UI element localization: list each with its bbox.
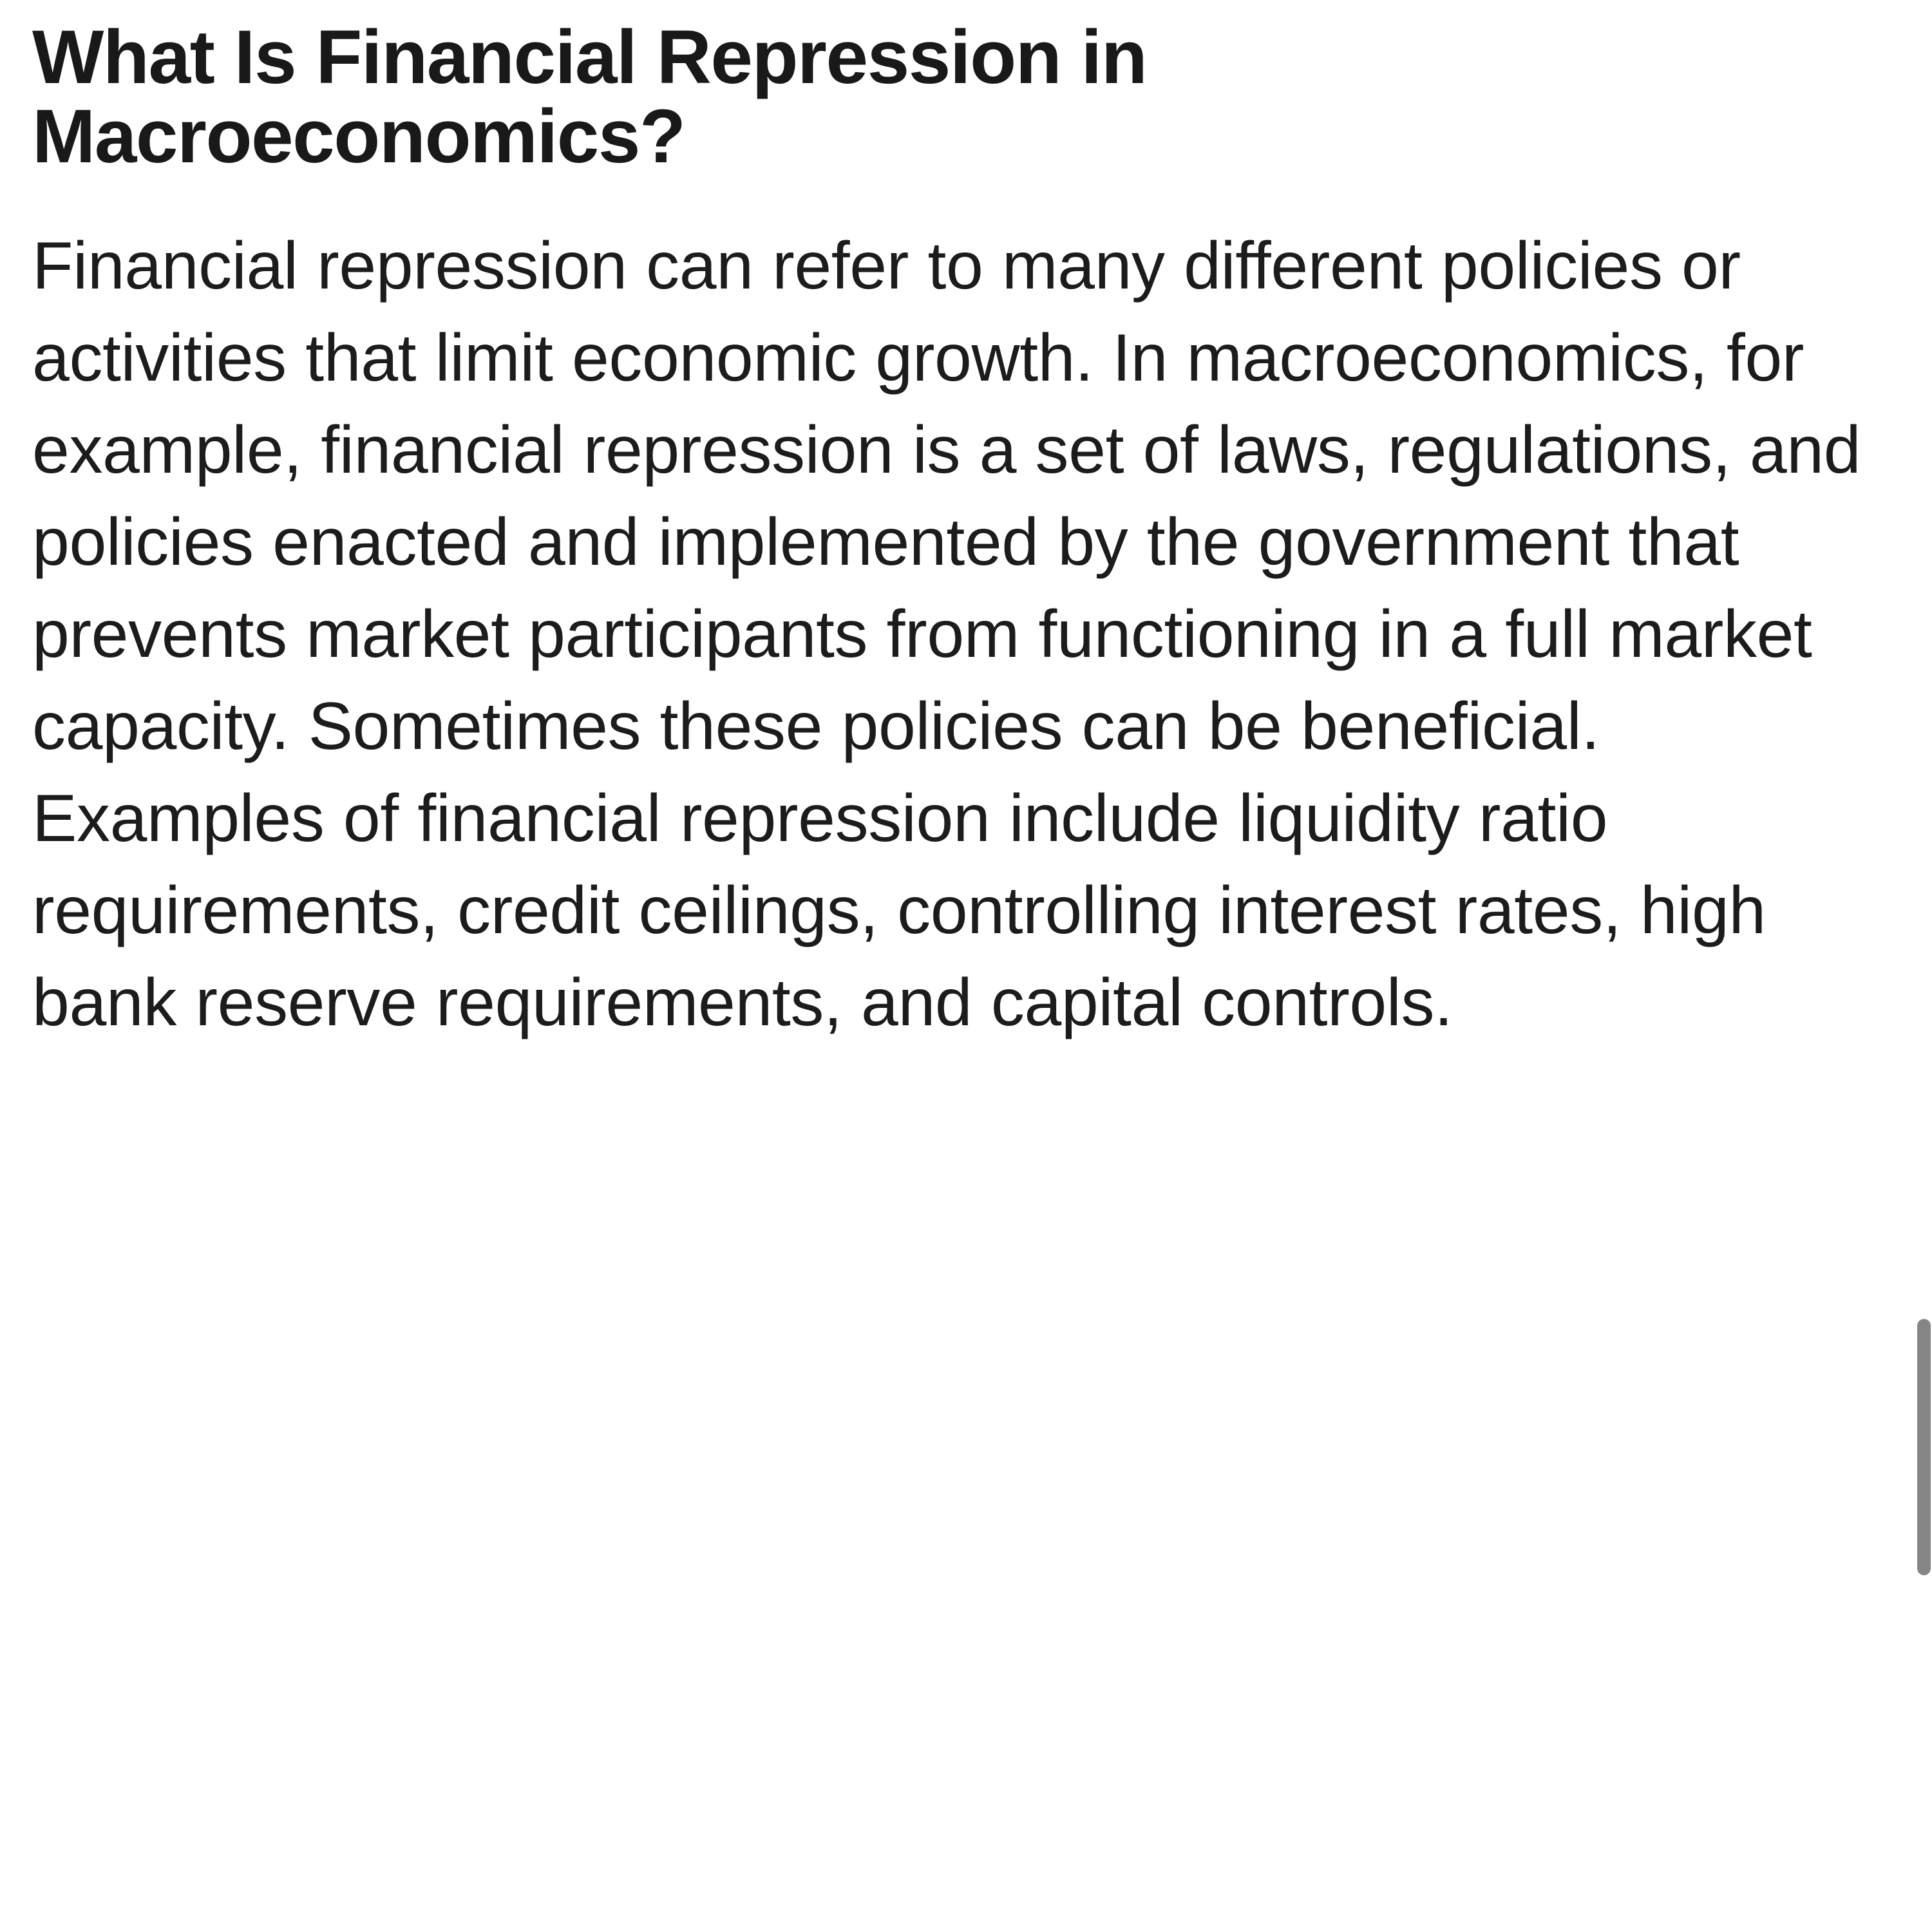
vertical-scrollbar-thumb[interactable] <box>1917 1319 1931 1575</box>
page-title: What Is Financial Repression in Macroeco… <box>32 0 1591 176</box>
article-page: What Is Financial Repression in Macroeco… <box>0 0 1932 1932</box>
vertical-scrollbar-track[interactable] <box>1915 0 1932 1932</box>
article-content: What Is Financial Repression in Macroeco… <box>32 0 1880 1049</box>
article-paragraph: Financial repression can refer to many d… <box>32 176 1877 1049</box>
